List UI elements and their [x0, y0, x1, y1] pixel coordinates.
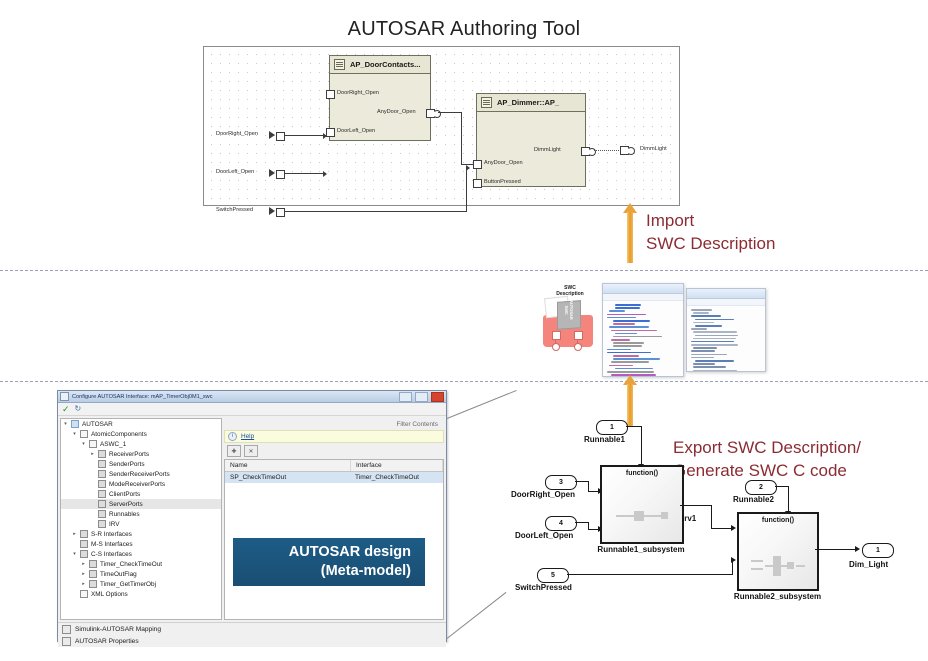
code-line	[693, 322, 714, 324]
component-name-2: AP_Dimmer::AP_	[497, 98, 559, 107]
code-line	[615, 333, 637, 335]
help-link[interactable]: Help	[241, 433, 254, 440]
code-line	[611, 339, 630, 341]
line-icon	[80, 540, 88, 548]
runnable2-thumbnail	[751, 556, 805, 574]
component-icon-1	[334, 59, 345, 70]
component2-inport-label-anydoor: AnyDoor_Open	[484, 160, 523, 166]
line-icon	[89, 580, 97, 588]
code-line	[691, 309, 712, 311]
close-button[interactable]	[431, 392, 444, 402]
tree-item-runnables[interactable]: Runnables	[61, 509, 221, 519]
port-icon	[98, 490, 106, 498]
export-label-line1: Export SWC Description/	[673, 437, 861, 458]
line-irv1-h1	[680, 505, 712, 506]
inport-label-runnable2: Runnable2	[733, 495, 774, 504]
import-label-line2: SWC Description	[646, 233, 775, 254]
window-icon	[60, 392, 69, 401]
configure-autosar-interface-window[interactable]: Configure AUTOSAR Interface: mAP_TimerOb…	[57, 390, 447, 642]
code-line	[607, 352, 651, 354]
table-header: Name Interface	[225, 460, 443, 472]
external-outport-ball	[627, 147, 635, 155]
callout-line-top	[447, 390, 517, 419]
component-name-1: AP_DoorContacts...	[350, 60, 420, 69]
cell-name: SP_CheckTimeOut	[225, 472, 350, 483]
code-line	[693, 366, 726, 368]
code-line	[615, 368, 653, 370]
tree-item-label: ReceiverPorts	[109, 451, 149, 458]
external-port-doorright[interactable]	[276, 132, 285, 141]
tree-item-label: IRV	[109, 521, 120, 528]
tree-item-label: S-R Interfaces	[91, 531, 132, 538]
external-port-label-doorright: DoorRight_Open	[216, 131, 258, 137]
component1-outport-label-anydoor: AnyDoor_Open	[377, 109, 416, 115]
port-icon	[98, 450, 106, 458]
inport-switchpressed[interactable]: 5	[537, 568, 569, 583]
maximize-button[interactable]	[415, 392, 428, 402]
tree-item-receiverports[interactable]: ▸ReceiverPorts	[61, 449, 221, 459]
line-icon	[98, 520, 106, 528]
component1-inport-doorright[interactable]	[326, 90, 335, 99]
code-line	[615, 304, 641, 306]
code-line	[609, 310, 625, 312]
tree-item-label: SenderPorts	[109, 461, 145, 468]
tree-item-m-s-interfaces[interactable]: M-S Interfaces	[61, 539, 221, 549]
export-arrow	[623, 375, 637, 427]
code-line	[613, 358, 660, 360]
tree-item-timer-checktimeout[interactable]: ▸Timer_CheckTimeOut	[61, 559, 221, 569]
runnable1-subsystem-name: Runnable1_subsystem	[586, 545, 696, 554]
footer-label-mapping: Simulink-AUTOSAR Mapping	[75, 626, 161, 633]
divider-bottom	[0, 381, 928, 382]
code-line	[611, 330, 657, 332]
filter-contents-label: Filter Contents	[224, 418, 444, 430]
code-line	[613, 323, 635, 325]
wire-arrow-switchpressed	[466, 165, 470, 171]
inport-label-doorright-open: DoorRight_Open	[511, 490, 575, 499]
wire-doorright	[284, 135, 324, 136]
minimize-button[interactable]	[399, 392, 412, 402]
external-port-label-doorleft: DoorLeft_Open	[216, 169, 254, 175]
outport-label-dim-light: Dim_Light	[849, 560, 888, 569]
tree-twisty[interactable]: ▸	[81, 561, 86, 567]
runnable1-thumbnail	[616, 507, 668, 523]
tree-item-clientports[interactable]: ClientPorts	[61, 489, 221, 499]
port-icon	[98, 500, 106, 508]
tree-item-autosar[interactable]: ▾AUTOSAR	[61, 419, 221, 429]
wire-anydoor-h1	[438, 112, 462, 113]
runnable2-subsystem-name: Runnable2_subsystem	[725, 592, 830, 601]
arxml-document-window[interactable]	[602, 283, 684, 377]
tree-item-s-r-interfaces[interactable]: ▸S-R Interfaces	[61, 529, 221, 539]
code-line	[607, 349, 631, 351]
code-line	[695, 325, 722, 327]
gear-icon	[80, 590, 88, 598]
runnable2-function-label: function()	[739, 517, 817, 524]
autosar-tree[interactable]: ▾AUTOSAR▾AtomicComponents▾ASWC_1▸Receive…	[60, 418, 222, 620]
line-doorright-h1	[575, 481, 589, 482]
code-line	[613, 336, 662, 338]
tree-item-timeoutflag[interactable]: ▸TimeOutFlag	[61, 569, 221, 579]
tree-twisty[interactable]: ▾	[72, 551, 77, 557]
arrow-switchpressed	[731, 557, 736, 563]
footer-item-mapping[interactable]: Simulink-AUTOSAR Mapping	[58, 623, 446, 635]
config-window-title: Configure AUTOSAR Interface: mAP_TimerOb…	[72, 394, 396, 400]
code-line	[691, 357, 714, 359]
component2-inport-buttonpressed[interactable]	[473, 179, 482, 188]
properties-icon	[62, 637, 71, 646]
swc-description-artifact: SWCDescription AUTOSAR SWC	[541, 285, 599, 360]
tree-item-serverports[interactable]: ServerPorts	[61, 499, 221, 509]
component1-outport-ball	[433, 110, 441, 118]
cell-interface: Timer_CheckTimeOut	[350, 472, 443, 483]
grid-icon	[71, 420, 79, 428]
tree-item-atomiccomponents[interactable]: ▾AtomicComponents	[61, 429, 221, 439]
inport-doorright-open[interactable]: 3	[545, 475, 577, 490]
swc-artifact-card: AUTOSAR SWC	[557, 300, 581, 330]
inport-doorleft-open[interactable]: 4	[545, 516, 577, 531]
code-line	[691, 328, 707, 330]
code-line	[613, 320, 650, 322]
tree-item-c-s-interfaces[interactable]: ▾C-S Interfaces	[61, 549, 221, 559]
tree-item-label: ServerPorts	[109, 501, 143, 508]
tree-twisty[interactable]: ▸	[90, 451, 95, 457]
autosar-design-callout: AUTOSAR design (Meta-model)	[233, 538, 425, 586]
component-icon-2	[481, 97, 492, 108]
inport-runnable1[interactable]: 1	[596, 420, 628, 435]
c-code-document-window[interactable]	[686, 288, 766, 372]
tree-item-label: ModeReceiverPorts	[109, 481, 165, 488]
delete-icon[interactable]: ✕	[244, 445, 258, 457]
swc-artifact-ball-2	[574, 343, 582, 351]
component2-inport-label-buttonpressed: ButtonPressed	[484, 179, 521, 185]
code-line	[611, 361, 649, 363]
code-line	[607, 314, 646, 316]
code-line	[691, 344, 738, 346]
arrow-dimlight	[855, 546, 860, 552]
tree-item-aswc-1[interactable]: ▾ASWC_1	[61, 439, 221, 449]
runnable2-subsystem[interactable]: function()	[737, 512, 819, 591]
component1-inport-label-doorright: DoorRight_Open	[337, 90, 379, 96]
inport-runnable2[interactable]: 2	[745, 480, 777, 495]
folder-icon	[89, 440, 97, 448]
port-icon	[98, 480, 106, 488]
code-line	[615, 307, 640, 309]
external-port-label-switchpressed: SwitchPressed	[216, 207, 253, 213]
wire-doorleft	[284, 173, 324, 174]
code-line	[613, 345, 642, 347]
code-line	[693, 370, 737, 372]
wire-arrow-doorleft	[323, 171, 327, 177]
check-icon[interactable]: ✓	[62, 405, 70, 414]
tree-item-label: ClientPorts	[109, 491, 140, 498]
tree-item-label: C-S Interfaces	[91, 551, 132, 558]
tree-item-label: SenderReceiverPorts	[109, 471, 170, 478]
tree-item-label: TimeOutFlag	[100, 571, 137, 578]
code-line	[695, 360, 734, 362]
add-icon[interactable]: ✚	[227, 445, 241, 457]
config-footer[interactable]: Simulink-AUTOSAR Mapping AUTOSAR Propert…	[58, 622, 446, 647]
code-line	[609, 326, 649, 328]
tree-twisty[interactable]: ▸	[81, 571, 86, 577]
import-arrow	[623, 203, 637, 263]
tree-item-senderports[interactable]: SenderPorts	[61, 459, 221, 469]
swc-artifact-ball-1	[552, 343, 560, 351]
code-line	[695, 319, 734, 321]
line-runnable1-h	[626, 426, 642, 427]
tree-twisty[interactable]: ▾	[63, 421, 68, 427]
line-icon	[80, 530, 88, 538]
swc-artifact-pin-1	[552, 331, 561, 340]
wire-switchpressed-riser	[466, 168, 467, 212]
tree-item-label: ASWC_1	[100, 441, 126, 448]
tree-item-label: XML Options	[91, 591, 128, 598]
tree-item-label: AtomicComponents	[91, 431, 147, 438]
component1-inport-doorleft[interactable]	[326, 128, 335, 137]
code-line	[693, 331, 737, 333]
component2-outport-label-dimmlight: DimmLight	[534, 147, 561, 153]
code-line	[695, 335, 738, 337]
config-toolbar[interactable]: ✓ ↻	[58, 403, 446, 416]
line-icon	[89, 560, 97, 568]
folder-icon	[80, 430, 88, 438]
line-irv1-v	[711, 505, 712, 529]
authoring-tool-canvas[interactable]: DoorRight_Open DoorLeft_Open SwitchPress…	[203, 46, 680, 206]
component-header-2: AP_Dimmer::AP_	[477, 94, 585, 112]
code-line	[693, 338, 736, 340]
design-box-line1: AUTOSAR design	[289, 543, 411, 562]
code-line	[607, 317, 636, 319]
component1-inport-label-doorleft: DoorLeft_Open	[337, 128, 375, 134]
component-ap-doorcontacts[interactable]: AP_DoorContacts... DoorRight_Open DoorLe…	[329, 55, 431, 141]
wire-switchpressed	[284, 211, 467, 212]
line-runnable2-v	[788, 486, 789, 512]
tree-item-label: Timer_CheckTimeOut	[100, 561, 162, 568]
port-icon	[98, 470, 106, 478]
runnable1-function-label: function()	[602, 470, 682, 477]
tree-twisty[interactable]: ▾	[72, 431, 77, 437]
line-dimlight	[815, 549, 857, 550]
page-title: AUTOSAR Authoring Tool	[0, 18, 928, 41]
mapping-icon	[62, 625, 71, 634]
line-icon	[80, 550, 88, 558]
line-irv1-h2	[711, 528, 733, 529]
tree-item-label: M-S Interfaces	[91, 541, 133, 548]
code-line	[693, 347, 717, 349]
component2-inport-anydoor[interactable]	[473, 160, 482, 169]
runnable1-subsystem[interactable]: function()	[600, 465, 684, 544]
column-interface: Interface	[351, 460, 443, 471]
tree-item-irv[interactable]: IRV	[61, 519, 221, 529]
export-label-line2: Generate SWC C code	[673, 460, 847, 481]
code-line	[693, 363, 715, 365]
tree-item-xml-options[interactable]: XML Options	[61, 589, 221, 599]
tree-item-label: Runnables	[109, 511, 140, 518]
tree-twisty[interactable]: ▸	[72, 531, 77, 537]
outport-dim-light[interactable]: 1	[862, 543, 894, 558]
wire-dimmlight-dotted	[594, 150, 621, 151]
line-doorleft-h1	[575, 522, 589, 523]
tree-item-label: AUTOSAR	[82, 421, 113, 428]
inport-label-doorleft-open: DoorLeft_Open	[515, 531, 573, 540]
table-row[interactable]: SP_CheckTimeOut Timer_CheckTimeOut	[225, 472, 443, 483]
inport-label-switchpressed: SwitchPressed	[515, 583, 572, 592]
line-runnable1-v	[641, 426, 642, 465]
info-icon: i	[228, 432, 237, 441]
code-line	[609, 365, 633, 367]
help-banner: i Help	[224, 430, 444, 443]
code-line	[693, 312, 709, 314]
external-port-switchpressed[interactable]	[276, 208, 285, 217]
footer-item-properties[interactable]: AUTOSAR Properties	[58, 635, 446, 647]
design-box-line2: (Meta-model)	[321, 562, 411, 581]
tree-item-timer-gettimerobj[interactable]: ▸Timer_GetTimerObj	[61, 579, 221, 589]
port-icon	[98, 460, 106, 468]
wire-anydoor-v	[461, 112, 462, 165]
tree-item-modereceiverports[interactable]: ModeReceiverPorts	[61, 479, 221, 489]
inport-label-runnable1: Runnable1	[584, 435, 625, 444]
code-line	[613, 355, 639, 357]
code-line	[691, 350, 715, 352]
code-line	[607, 371, 654, 373]
config-window-titlebar[interactable]: Configure AUTOSAR Interface: mAP_TimerOb…	[58, 391, 446, 403]
refresh-icon[interactable]: ↻	[75, 405, 82, 413]
external-port-doorleft[interactable]	[276, 170, 285, 179]
port-icon	[98, 510, 106, 518]
table-action-buttons[interactable]: ✚ ✕	[224, 443, 444, 457]
line-switchpressed-h1	[567, 574, 733, 575]
code-line	[613, 342, 644, 344]
tree-item-label: Timer_GetTimerObj	[100, 581, 156, 588]
line-icon	[89, 570, 97, 578]
code-line	[691, 354, 727, 356]
code-line	[691, 315, 721, 317]
swc-artifact-pin-2	[574, 331, 583, 340]
line-runnable2-h	[775, 486, 789, 487]
signal-label-irv1: irv1	[682, 514, 696, 523]
code-line	[691, 341, 734, 343]
column-name: Name	[225, 460, 351, 471]
import-label-line1: Import	[646, 210, 694, 231]
tree-twisty[interactable]: ▾	[81, 441, 86, 447]
callout-line-bottom	[447, 592, 507, 639]
divider-top	[0, 270, 928, 271]
tree-twisty[interactable]: ▸	[81, 581, 86, 587]
footer-label-properties: AUTOSAR Properties	[75, 638, 139, 645]
arrow-irv1	[731, 525, 736, 531]
component-header-1: AP_DoorContacts...	[330, 56, 430, 74]
external-outport-label-dimmlight: DimmLight	[640, 146, 667, 152]
component-ap-dimmer[interactable]: AP_Dimmer::AP_ AnyDoor_Open ButtonPresse…	[476, 93, 586, 187]
tree-item-senderreceiverports[interactable]: SenderReceiverPorts	[61, 469, 221, 479]
